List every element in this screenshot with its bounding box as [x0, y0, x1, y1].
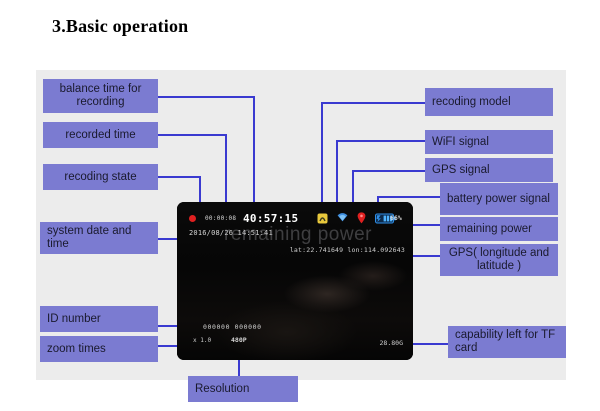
label-resolution: Resolution — [188, 376, 298, 402]
label-zoom-times: zoom times — [40, 336, 158, 362]
label-tf-card-capability: capability left for TF card — [448, 326, 566, 358]
label-recoding-model: recoding model — [425, 88, 553, 116]
status-icon-cluster — [317, 211, 396, 225]
label-gps-signal: GPS signal — [425, 158, 553, 182]
resolution-value: 480P — [231, 336, 247, 344]
connector-balance-time-h — [158, 96, 254, 98]
connector-recoding-model-h — [321, 102, 425, 104]
label-recorded-time-text: recorded time — [50, 129, 151, 142]
label-remaining-power-text: remaining power — [447, 223, 551, 236]
recorded-time-value: 00:00:08 — [205, 215, 236, 222]
label-zoom-times-text: zoom times — [47, 343, 151, 356]
label-tf-card-capability-text: capability left for TF card — [455, 329, 559, 355]
label-system-datetime: system date and time — [40, 222, 158, 254]
balance-time-value: 40:57:15 — [243, 212, 298, 225]
connector-battery-signal-h — [377, 196, 440, 198]
wifi-signal-icon — [337, 213, 348, 223]
connector-recorded-time-h — [158, 134, 226, 136]
label-battery-power-signal-text: battery power signal — [447, 193, 551, 206]
label-system-datetime-text: system date and time — [47, 225, 151, 251]
page-title: 3.Basic operation — [52, 16, 188, 37]
label-balance-time-text: balance time for recording — [50, 83, 151, 109]
label-gps-coordinates-text: GPS( longitude and latitude ) — [447, 247, 551, 273]
label-wifi-signal-text: WiFI signal — [432, 136, 546, 149]
label-id-number: ID number — [40, 306, 158, 332]
system-datetime-value: 2016/08/26 14:51:41 — [189, 229, 273, 237]
label-gps-signal-text: GPS signal — [432, 164, 546, 177]
battery-percent-value: 66% — [390, 214, 402, 222]
tf-card-capacity-value: 28.80G — [380, 339, 403, 347]
id-number-value: 000000 000000 — [203, 323, 262, 331]
label-remaining-power: remaining power — [440, 217, 558, 241]
connector-recoding-state-h — [158, 176, 200, 178]
connector-balance-time-v — [253, 96, 255, 212]
gps-coordinates-value: lat:22.741649 lon:114.092643 — [290, 246, 405, 254]
gps-signal-icon — [357, 212, 366, 224]
page-root: 3.Basic operation balance time for recor… — [0, 0, 600, 411]
label-gps-coordinates: GPS( longitude and latitude ) — [440, 244, 558, 276]
zoom-times-value: x 1.0 — [193, 337, 211, 344]
connector-recoding-model-v — [321, 102, 323, 218]
label-wifi-signal: WiFI signal — [425, 130, 553, 154]
camera-video-feed — [177, 202, 413, 360]
label-recoding-state-text: recoding state — [50, 171, 151, 184]
label-recorded-time: recorded time — [43, 122, 158, 148]
label-battery-power-signal: battery power signal — [440, 183, 558, 215]
camera-preview-screen[interactable]: 00:00:08 40:57:15 2016/08/26 14:51:41 re… — [177, 202, 413, 360]
label-recoding-model-text: recoding model — [432, 96, 546, 109]
label-balance-time: balance time for recording — [43, 79, 158, 113]
label-resolution-text: Resolution — [195, 383, 291, 396]
label-id-number-text: ID number — [47, 313, 151, 326]
recording-state-icon — [189, 215, 196, 222]
connector-wifi-signal-h — [336, 140, 425, 142]
connector-gps-signal-h — [352, 170, 425, 172]
label-recoding-state: recoding state — [43, 164, 158, 190]
recoding-model-icon — [317, 213, 328, 224]
